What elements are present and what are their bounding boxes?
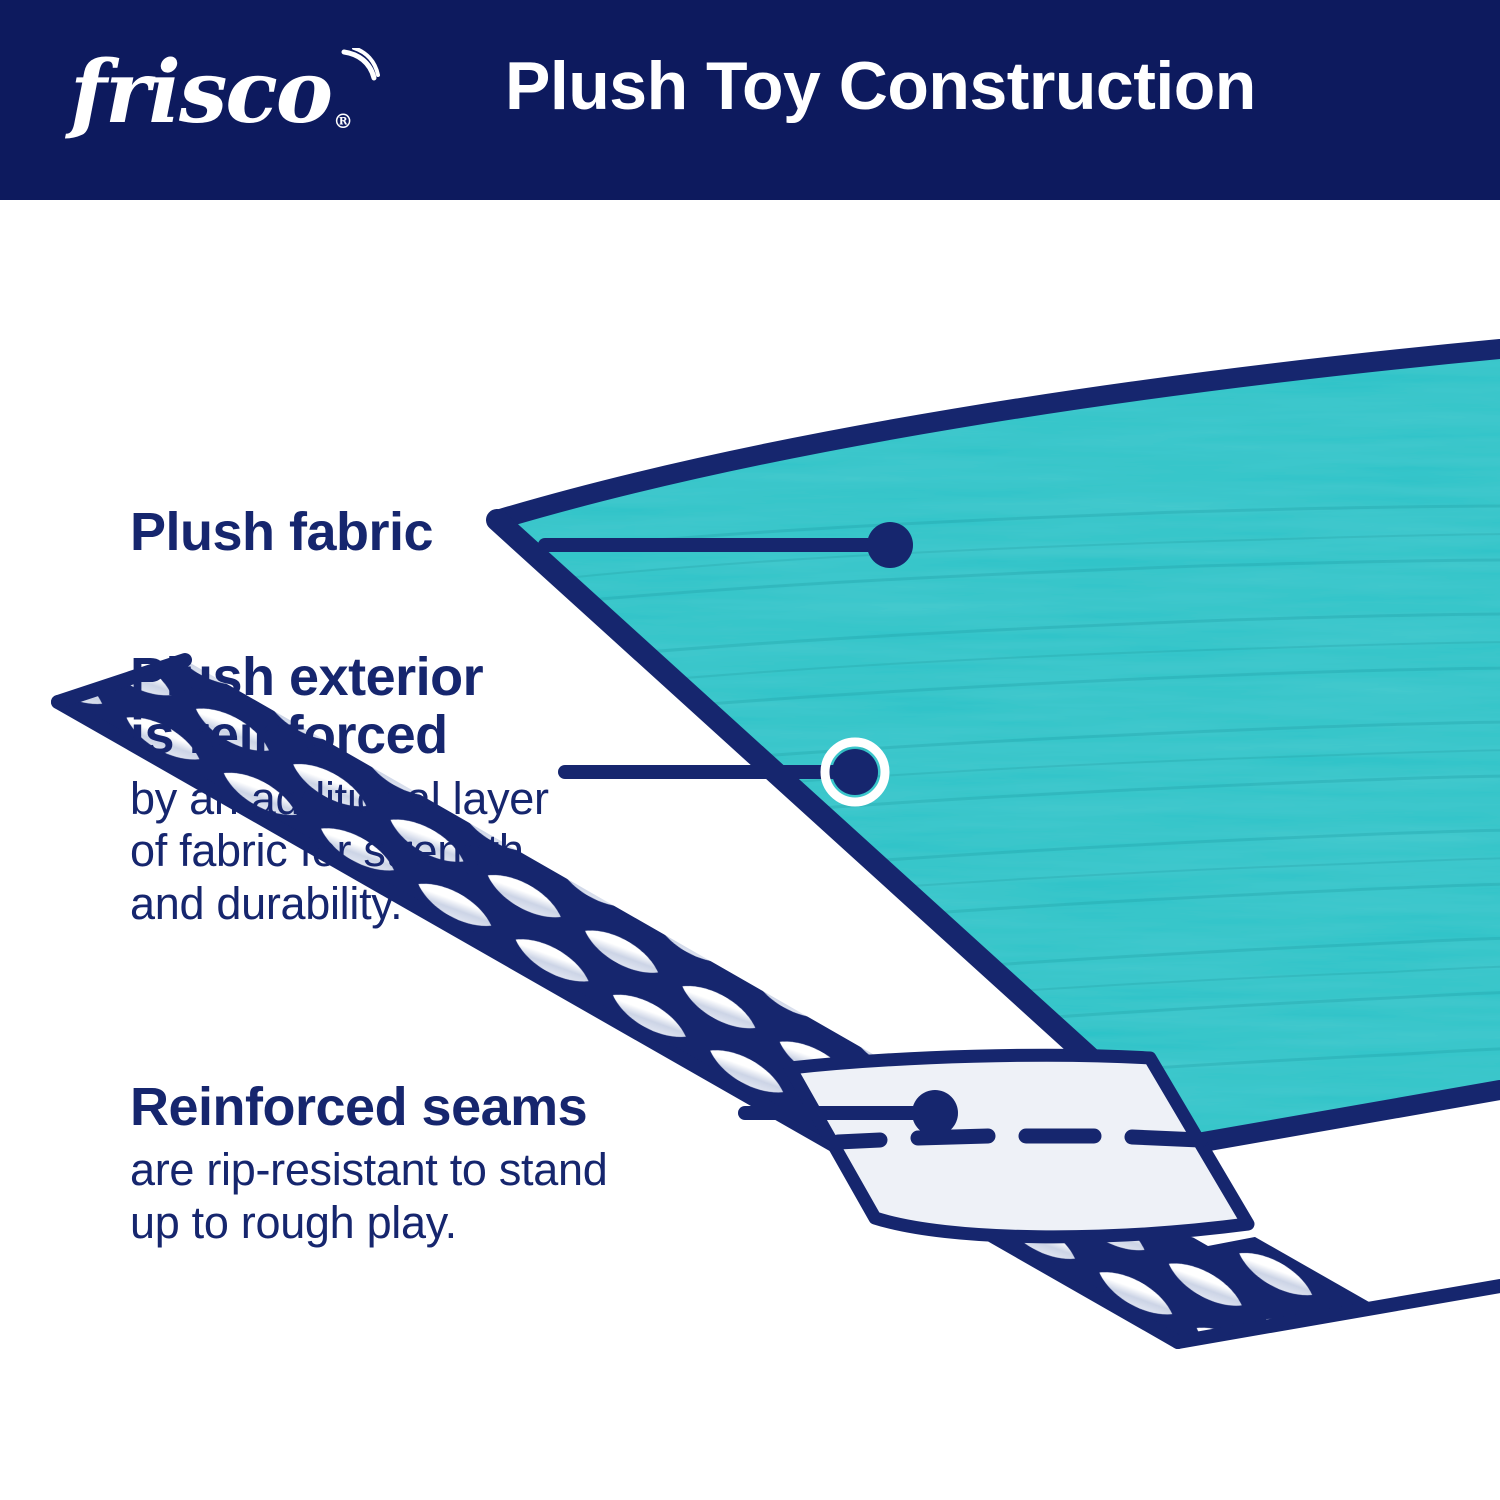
page-title: Plush Toy Construction: [505, 52, 1256, 120]
leader-dot-plush-fabric: [867, 522, 913, 568]
callout-1-heading: Plush fabric: [130, 503, 433, 561]
registered-trademark-icon: ®: [333, 109, 351, 133]
plush-fabric-layer: [460, 340, 1500, 1160]
infographic-page: frisco® Plush Toy Construction: [0, 0, 1500, 1500]
leader-dot-reinforced-seams: [912, 1090, 958, 1136]
frisco-logo-text: frisco: [70, 42, 331, 143]
callout-3-body: are rip-resistant to stand up to rough p…: [130, 1144, 607, 1249]
callout-2-heading: Plush exterior is reinforced: [130, 648, 549, 765]
frisco-logo: frisco®: [70, 50, 351, 136]
callout-3-heading: Reinforced seams: [130, 1078, 607, 1136]
callout-plush-fabric: Plush fabric: [130, 503, 433, 561]
callout-2-body: by an additional layer of fabric for str…: [130, 773, 549, 931]
header-bar: frisco® Plush Toy Construction: [0, 0, 1500, 200]
callout-plush-exterior-reinforced: Plush exterior is reinforced by an addit…: [130, 648, 549, 931]
leader-dot-plush-exterior: [832, 749, 878, 795]
callout-reinforced-seams: Reinforced seams are rip-resistant to st…: [130, 1078, 607, 1250]
